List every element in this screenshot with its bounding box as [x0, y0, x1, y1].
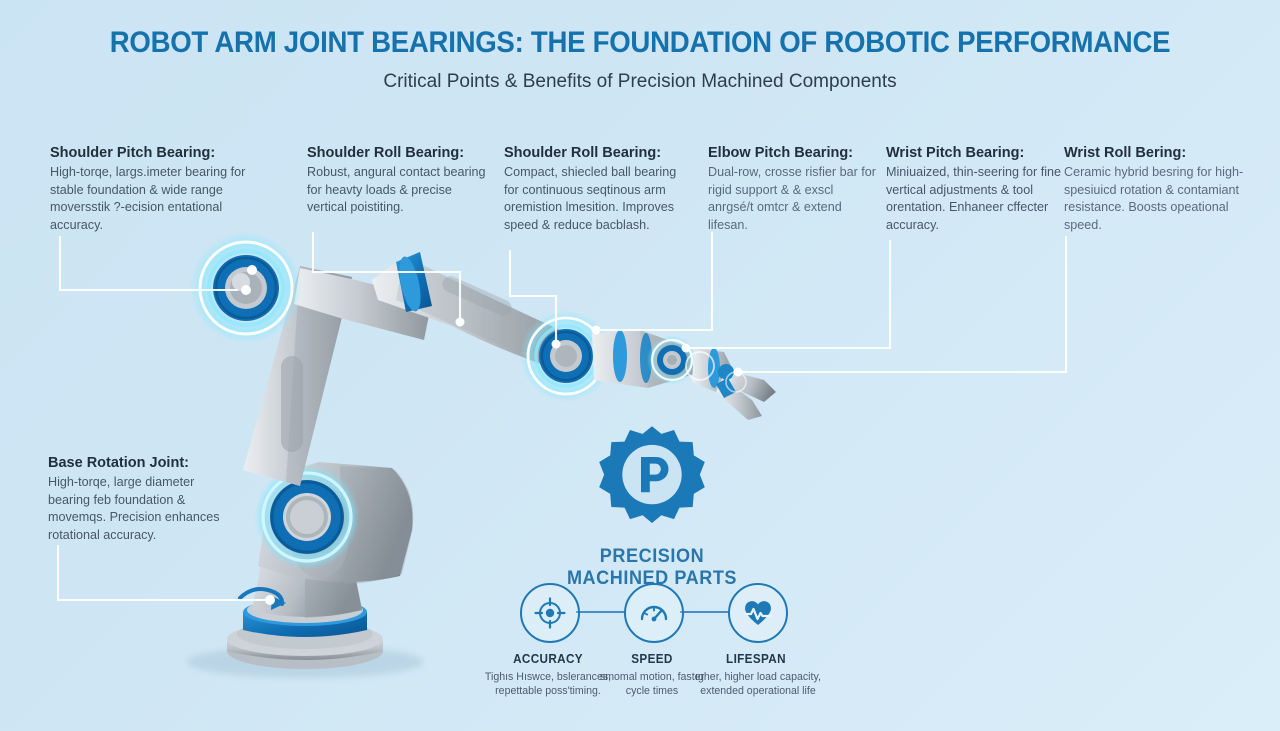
- annotation-body: High-torqe, largs.imeter bearing for sta…: [50, 164, 250, 234]
- annotation-wrist-pitch-bearing: Wrist Pitch Bearing: Miniuaized, thin-se…: [886, 145, 1062, 234]
- benefit-icon-speed[interactable]: [624, 583, 684, 643]
- annotation-wrist-roll-bearing: Wrist Roll Bering: Ceramic hybrid besrin…: [1064, 145, 1244, 234]
- benefit-icon-lifespan[interactable]: [728, 583, 788, 643]
- benefit-connector-1: [576, 611, 626, 613]
- annotation-body: Miniuaized, thin-seering for fine vertic…: [886, 164, 1062, 234]
- heartbeat-icon: [742, 597, 774, 629]
- brand-logo: PRECISION MACHINED PARTS: [552, 424, 752, 590]
- annotation-title: Shoulder Roll Bearing:: [307, 145, 487, 161]
- annotation-title: Base Rotation Joint:: [48, 455, 238, 471]
- annotation-body: Dual-row, crosse risfier bar for rigid s…: [708, 164, 880, 234]
- page-title: ROBOT ARM JOINT BEARINGS: THE FOUNDATION…: [51, 26, 1229, 60]
- annotation-title: Elbow Pitch Bearing:: [708, 145, 880, 161]
- annotation-title: Wrist Roll Bering:: [1064, 145, 1244, 161]
- shoulder-pitch-joint-marker: [190, 232, 302, 344]
- benefit-label-speed: SPEED: [598, 651, 706, 666]
- benefit-connector-2: [680, 611, 730, 613]
- annotation-body: High-torqe, large diameter bearing feb f…: [48, 474, 238, 544]
- annotation-elbow-pitch-bearing: Elbow Pitch Bearing: Dual-row, crosse ri…: [708, 145, 880, 234]
- annotation-title: Shoulder Pitch Bearing:: [50, 145, 250, 161]
- benefit-label-lifespan: LIFESPAN: [702, 651, 810, 666]
- gripper-assembly: [692, 348, 776, 420]
- benefit-icon-accuracy[interactable]: [520, 583, 580, 643]
- annotation-base-rotation-joint: Base Rotation Joint: High-torqe, large d…: [48, 455, 238, 544]
- target-icon: [534, 597, 566, 629]
- annotation-shoulder-roll-bearing-1: Shoulder Roll Bearing: Robust, angural c…: [307, 145, 487, 217]
- annotation-body: Robust, angural contact bearing for heav…: [307, 164, 487, 217]
- annotation-shoulder-roll-bearing-2: Shoulder Roll Bearing: Compact, shiecled…: [504, 145, 679, 234]
- infographic-canvas: ROBOT ARM JOINT BEARINGS: THE FOUNDATION…: [0, 0, 1280, 731]
- elbow-joint-marker: [647, 335, 697, 385]
- benefit-label-accuracy: ACCURACY: [494, 651, 602, 666]
- speedometer-icon: [638, 597, 670, 629]
- annotation-shoulder-pitch-bearing: Shoulder Pitch Bearing: High-torqe, larg…: [50, 145, 250, 234]
- annotation-title: Shoulder Roll Bearing:: [504, 145, 679, 161]
- annotation-body: Compact, shiecled ball bearing for conti…: [504, 164, 679, 234]
- gear-icon: [597, 424, 707, 534]
- annotation-body: Ceramic hybrid besring for high-spesiuic…: [1064, 164, 1244, 234]
- page-subtitle: Critical Points & Benefits of Precision …: [0, 71, 1280, 93]
- benefit-desc-lifespan: ıgher, higher load capacity, extended op…: [693, 670, 823, 698]
- annotation-title: Wrist Pitch Bearing:: [886, 145, 1062, 161]
- base-rotation-joint-marker: [254, 464, 360, 570]
